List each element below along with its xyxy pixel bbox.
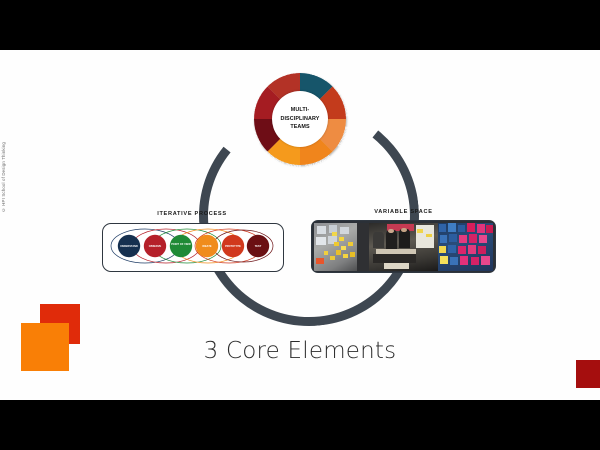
iterative-step-label-3: POINT OF VIEW <box>171 243 191 246</box>
variable-space-heading: VARIABLE SPACE <box>311 209 496 215</box>
iterative-process-heading: ITERATIVE PROCESS <box>102 211 282 217</box>
variable-space-photo-3 <box>438 223 494 271</box>
iterative-step-label-4: IDEATE <box>202 245 212 248</box>
decor-square-dark-red <box>576 360 600 388</box>
iterative-step-label-1: UNDERSTAND <box>120 245 138 248</box>
variable-space-panel <box>311 220 496 273</box>
slide-canvas: © HPI School of Design Thinking <box>0 50 600 400</box>
slide-stage: © HPI School of Design Thinking <box>0 0 600 450</box>
iterative-process-panel: UNDERSTAND OBSERVE POINT OF VIEW IDEATE … <box>102 223 284 272</box>
iterative-step-circle-3 <box>170 235 192 257</box>
variable-space-photo-2 <box>369 223 437 271</box>
iterative-step-label-2: OBSERVE <box>149 245 162 248</box>
center-line-3: TEAMS <box>290 123 309 131</box>
iterative-step-label-6: TEST <box>255 245 262 248</box>
page-title: 3 Core Elements <box>0 338 600 364</box>
iterative-process-diagram: UNDERSTAND OBSERVE POINT OF VIEW IDEATE … <box>103 224 280 268</box>
multidisciplinary-teams-wheel: INDUSTRY LIFE SCIENCES BUSINESS HUMANITI… <box>240 59 360 179</box>
center-line-2: DISCIPLINARY <box>280 115 319 123</box>
variable-space-photo-1 <box>314 223 370 271</box>
wheel-center-label: MULTI- DISCIPLINARY TEAMS <box>272 91 328 147</box>
iterative-step-circles <box>118 235 269 257</box>
letterbox-bottom <box>0 400 600 450</box>
center-line-1: MULTI- <box>291 106 309 114</box>
copyright-notice: © HPI School of Design Thinking <box>1 142 6 212</box>
letterbox-top <box>0 0 600 50</box>
iterative-step-label-5: PROTOTYPE <box>225 245 241 248</box>
